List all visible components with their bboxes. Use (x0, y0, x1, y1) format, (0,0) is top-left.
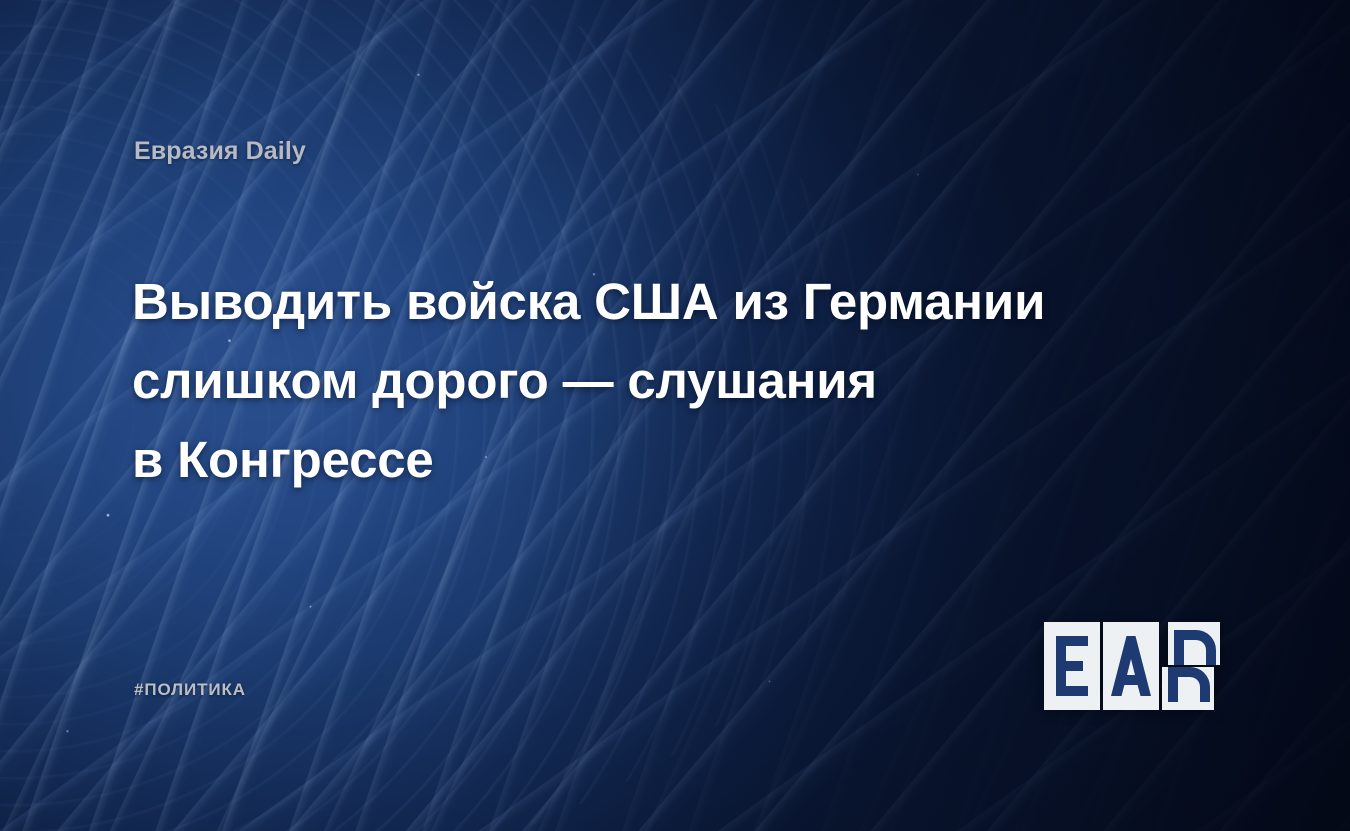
headline: Выводить войска США из Германии слишком … (132, 262, 1142, 499)
headline-line-3: в Конгрессе (132, 420, 1142, 499)
share-card: Евразия Daily Выводить войска США из Гер… (0, 0, 1350, 831)
headline-line-1: Выводить войска США из Германии (132, 262, 1142, 341)
eadaily-logo[interactable] (1044, 622, 1220, 710)
card-content: Евразия Daily Выводить войска США из Гер… (0, 0, 1350, 831)
logo-tile-d-split-icon (1162, 622, 1220, 710)
headline-line-2: слишком дорого — слушания (132, 341, 1142, 420)
brand-name: Евразия Daily (134, 137, 306, 166)
logo-tile-e-icon (1044, 622, 1100, 710)
logo-tile-a-icon (1103, 622, 1159, 710)
category-hashtag[interactable]: #ПОЛИТИКА (134, 680, 246, 700)
logo-tile-d-bottom-half (1162, 667, 1214, 710)
logo-tile-d-top-half (1168, 622, 1220, 665)
